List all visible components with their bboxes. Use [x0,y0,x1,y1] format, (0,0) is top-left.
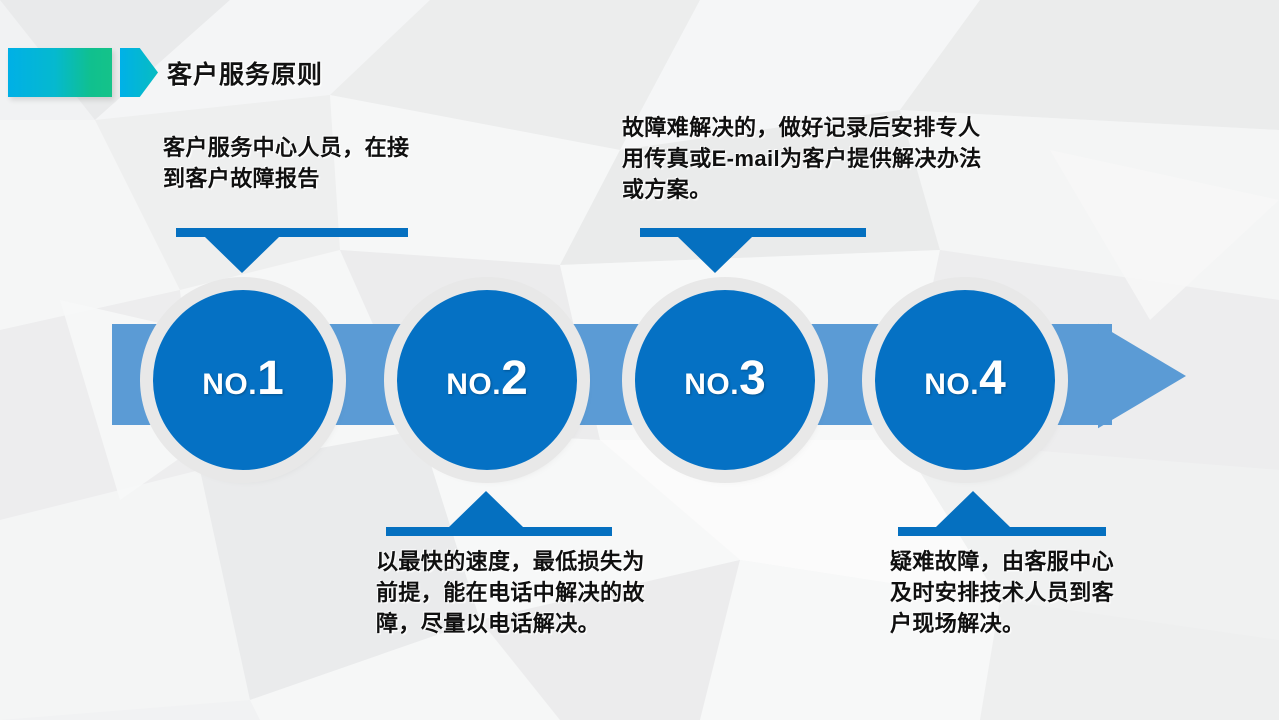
step-badge-label-1: NO.1 [202,355,284,403]
page-title: 客户服务原则 [167,55,323,91]
banner-gradient-bar [8,48,112,97]
step-badge-4[interactable]: NO.4 [875,290,1055,470]
connector-pointer-icon [205,237,279,273]
badge-number: 3 [739,352,766,405]
slide-canvas: 客户服务原则 NO.1 NO.2 NO.3 NO.4 [0,0,1279,720]
connector-bar [176,228,408,237]
connector-step-3 [640,228,866,273]
connector-step-2 [386,491,612,536]
badge-number: 4 [979,352,1006,405]
step-badge-1[interactable]: NO.1 [153,290,333,470]
connector-pointer-icon [936,491,1010,527]
banner-arrow-icon [120,48,158,97]
connector-step-1 [176,228,408,273]
connector-bar [640,228,866,237]
connector-pointer-icon [678,237,752,273]
step-badge-label-3: NO.3 [684,355,766,403]
badge-prefix: NO. [924,368,979,401]
step-badge-label-4: NO.4 [924,355,1006,403]
step-badge-2[interactable]: NO.2 [397,290,577,470]
badge-prefix: NO. [684,368,739,401]
badge-prefix: NO. [202,368,257,401]
badge-prefix: NO. [446,368,501,401]
connector-bar [386,527,612,536]
step-description-4: 疑难故障，由客服中心及时安排技术人员到客户现场解决。 [890,546,1122,640]
step-badge-label-2: NO.2 [446,355,528,403]
step-description-2: 以最快的速度，最低损失为前提，能在电话中解决的故障，尽量以电话解决。 [376,546,662,640]
connector-bar [898,527,1106,536]
badge-number: 2 [501,352,528,405]
step-description-3: 故障难解决的，做好记录后安排专人用传真或E-mail为客户提供解决办法或方案。 [622,112,992,206]
connector-step-4 [898,491,1106,536]
connector-pointer-icon [449,491,523,527]
title-banner [8,48,158,97]
step-description-1: 客户服务中心人员，在接到客户故障报告 [163,132,423,194]
step-badge-3[interactable]: NO.3 [635,290,815,470]
badge-number: 1 [257,352,284,405]
